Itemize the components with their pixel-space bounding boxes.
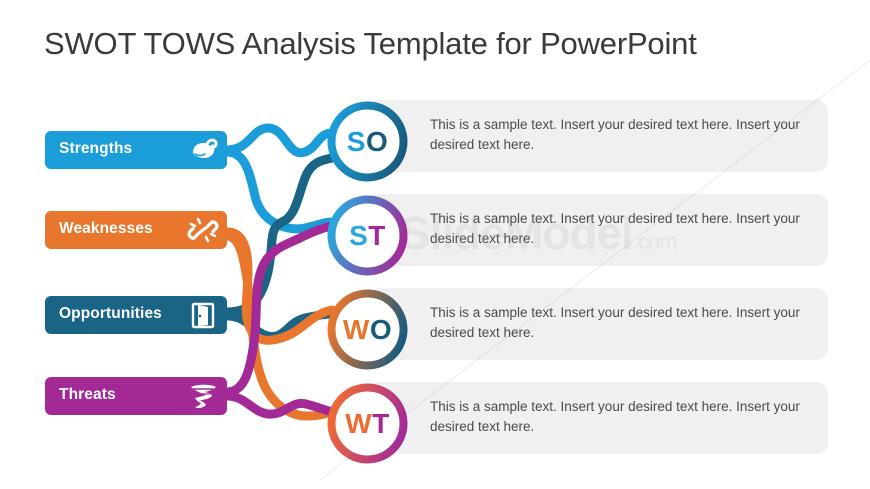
text-panel-st: This is a sample text. Insert your desir… bbox=[368, 194, 828, 266]
page-title: SWOT TOWS Analysis Template for PowerPoi… bbox=[44, 26, 697, 62]
connector-weaknesses-wt bbox=[227, 236, 332, 416]
panel-text-wt: This is a sample text. Insert your desir… bbox=[430, 397, 810, 437]
label-box-opportunities[interactable]: Opportunities bbox=[45, 296, 227, 334]
panel-text-st: This is a sample text. Insert your desir… bbox=[430, 209, 810, 249]
label-text-weaknesses: Weaknesses bbox=[59, 220, 153, 238]
label-text-threats: Threats bbox=[59, 386, 116, 404]
label-box-strengths[interactable]: Strengths bbox=[45, 131, 227, 169]
circle-letter-s: S bbox=[347, 126, 366, 158]
connector-threats-wt bbox=[227, 396, 332, 414]
circle-wo[interactable]: WO bbox=[327, 289, 408, 370]
circle-letter-o: O bbox=[366, 126, 388, 158]
panel-text-wo: This is a sample text. Insert your desir… bbox=[430, 303, 810, 343]
open-door-icon bbox=[187, 300, 219, 330]
text-panel-so: This is a sample text. Insert your desir… bbox=[368, 100, 828, 172]
circle-letter-o: O bbox=[370, 314, 392, 346]
connector-strengths-so bbox=[227, 128, 331, 153]
circle-letters-st: ST bbox=[327, 195, 408, 276]
circle-st[interactable]: ST bbox=[327, 195, 408, 276]
text-panel-wt: This is a sample text. Insert your desir… bbox=[368, 382, 828, 454]
connector-strengths-st bbox=[227, 152, 333, 229]
broken-chain-icon bbox=[187, 215, 219, 245]
circle-letter-w: W bbox=[343, 314, 370, 346]
flexed-bicep-icon bbox=[187, 135, 219, 165]
circle-letter-t: T bbox=[368, 220, 386, 252]
label-text-strengths: Strengths bbox=[59, 140, 132, 158]
circle-letters-so: SO bbox=[327, 101, 408, 182]
slide-canvas: SWOT TOWS Analysis Template for PowerPoi… bbox=[0, 0, 870, 489]
circle-wt[interactable]: WT bbox=[327, 383, 408, 464]
circle-letter-s: S bbox=[349, 220, 368, 252]
connector-opportunities-wo bbox=[227, 314, 333, 337]
connector-weaknesses-wo bbox=[227, 232, 332, 340]
circle-so[interactable]: SO bbox=[327, 101, 408, 182]
text-panel-wo: This is a sample text. Insert your desir… bbox=[368, 288, 828, 360]
connector-threats-st bbox=[227, 226, 332, 392]
panel-text-so: This is a sample text. Insert your desir… bbox=[430, 115, 810, 155]
label-box-threats[interactable]: Threats bbox=[45, 377, 227, 415]
circle-letters-wo: WO bbox=[327, 289, 408, 370]
circle-letter-t: T bbox=[372, 408, 390, 440]
label-text-opportunities: Opportunities bbox=[59, 305, 162, 323]
label-box-weaknesses[interactable]: Weaknesses bbox=[45, 211, 227, 249]
connector-opportunities-so bbox=[227, 158, 332, 312]
tornado-icon bbox=[187, 381, 219, 411]
circle-letters-wt: WT bbox=[327, 383, 408, 464]
circle-letter-w: W bbox=[345, 408, 372, 440]
